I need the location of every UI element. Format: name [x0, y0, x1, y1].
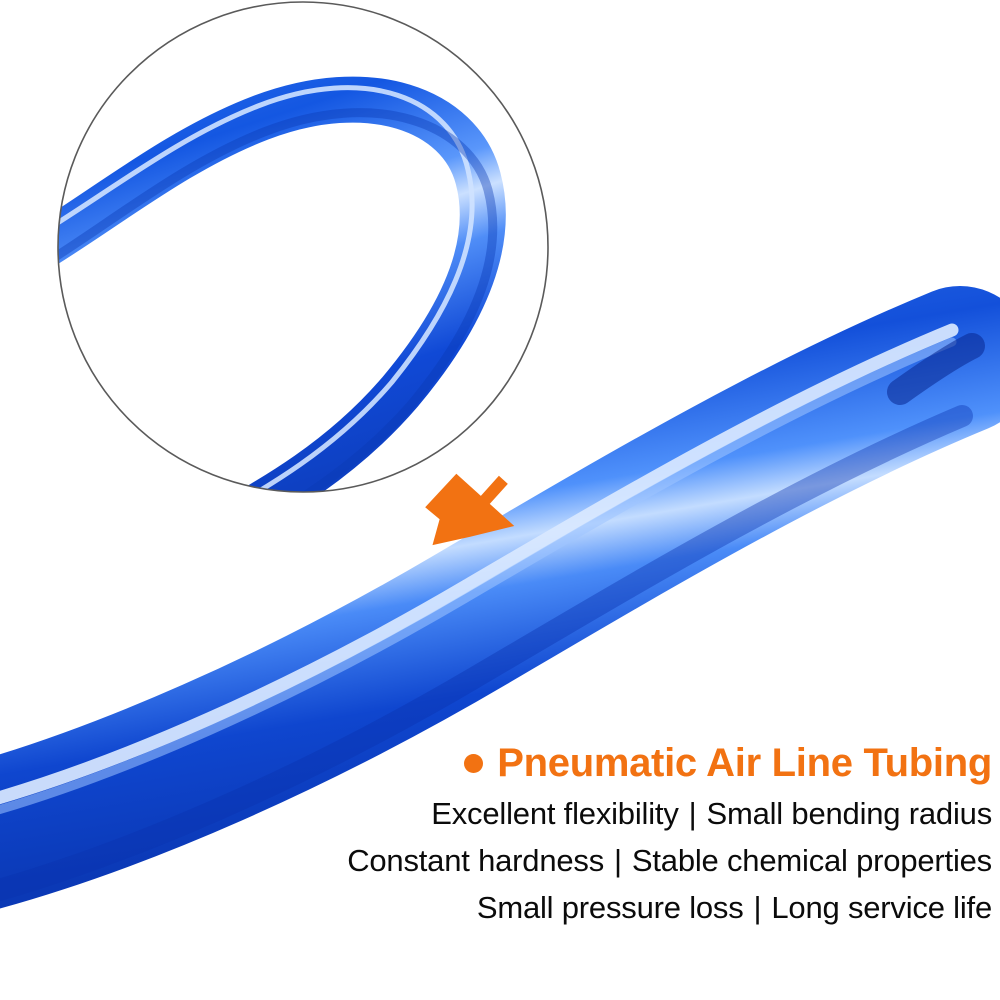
headline-row: Pneumatic Air Line Tubing [292, 742, 992, 784]
product-text-block: Pneumatic Air Line Tubing Excellent flex… [292, 742, 992, 931]
product-headline: Pneumatic Air Line Tubing [497, 742, 992, 784]
feature-line-3: Small pressure loss|Long service life [292, 884, 992, 931]
feature-1-separator: | [679, 790, 707, 837]
feature-1-left: Excellent flexibility [431, 796, 678, 831]
feature-2-left: Constant hardness [347, 843, 604, 878]
product-image-canvas: Pneumatic Air Line Tubing Excellent flex… [0, 0, 1000, 1000]
feature-2-right: Stable chemical properties [632, 843, 992, 878]
feature-line-1: Excellent flexibility|Small bending radi… [292, 790, 992, 837]
feature-3-left: Small pressure loss [477, 890, 744, 925]
bullet-dot-icon [464, 754, 483, 773]
feature-1-right: Small bending radius [706, 796, 992, 831]
feature-line-2: Constant hardness|Stable chemical proper… [292, 837, 992, 884]
feature-2-separator: | [604, 837, 632, 884]
feature-3-right: Long service life [771, 890, 992, 925]
feature-3-separator: | [744, 884, 772, 931]
